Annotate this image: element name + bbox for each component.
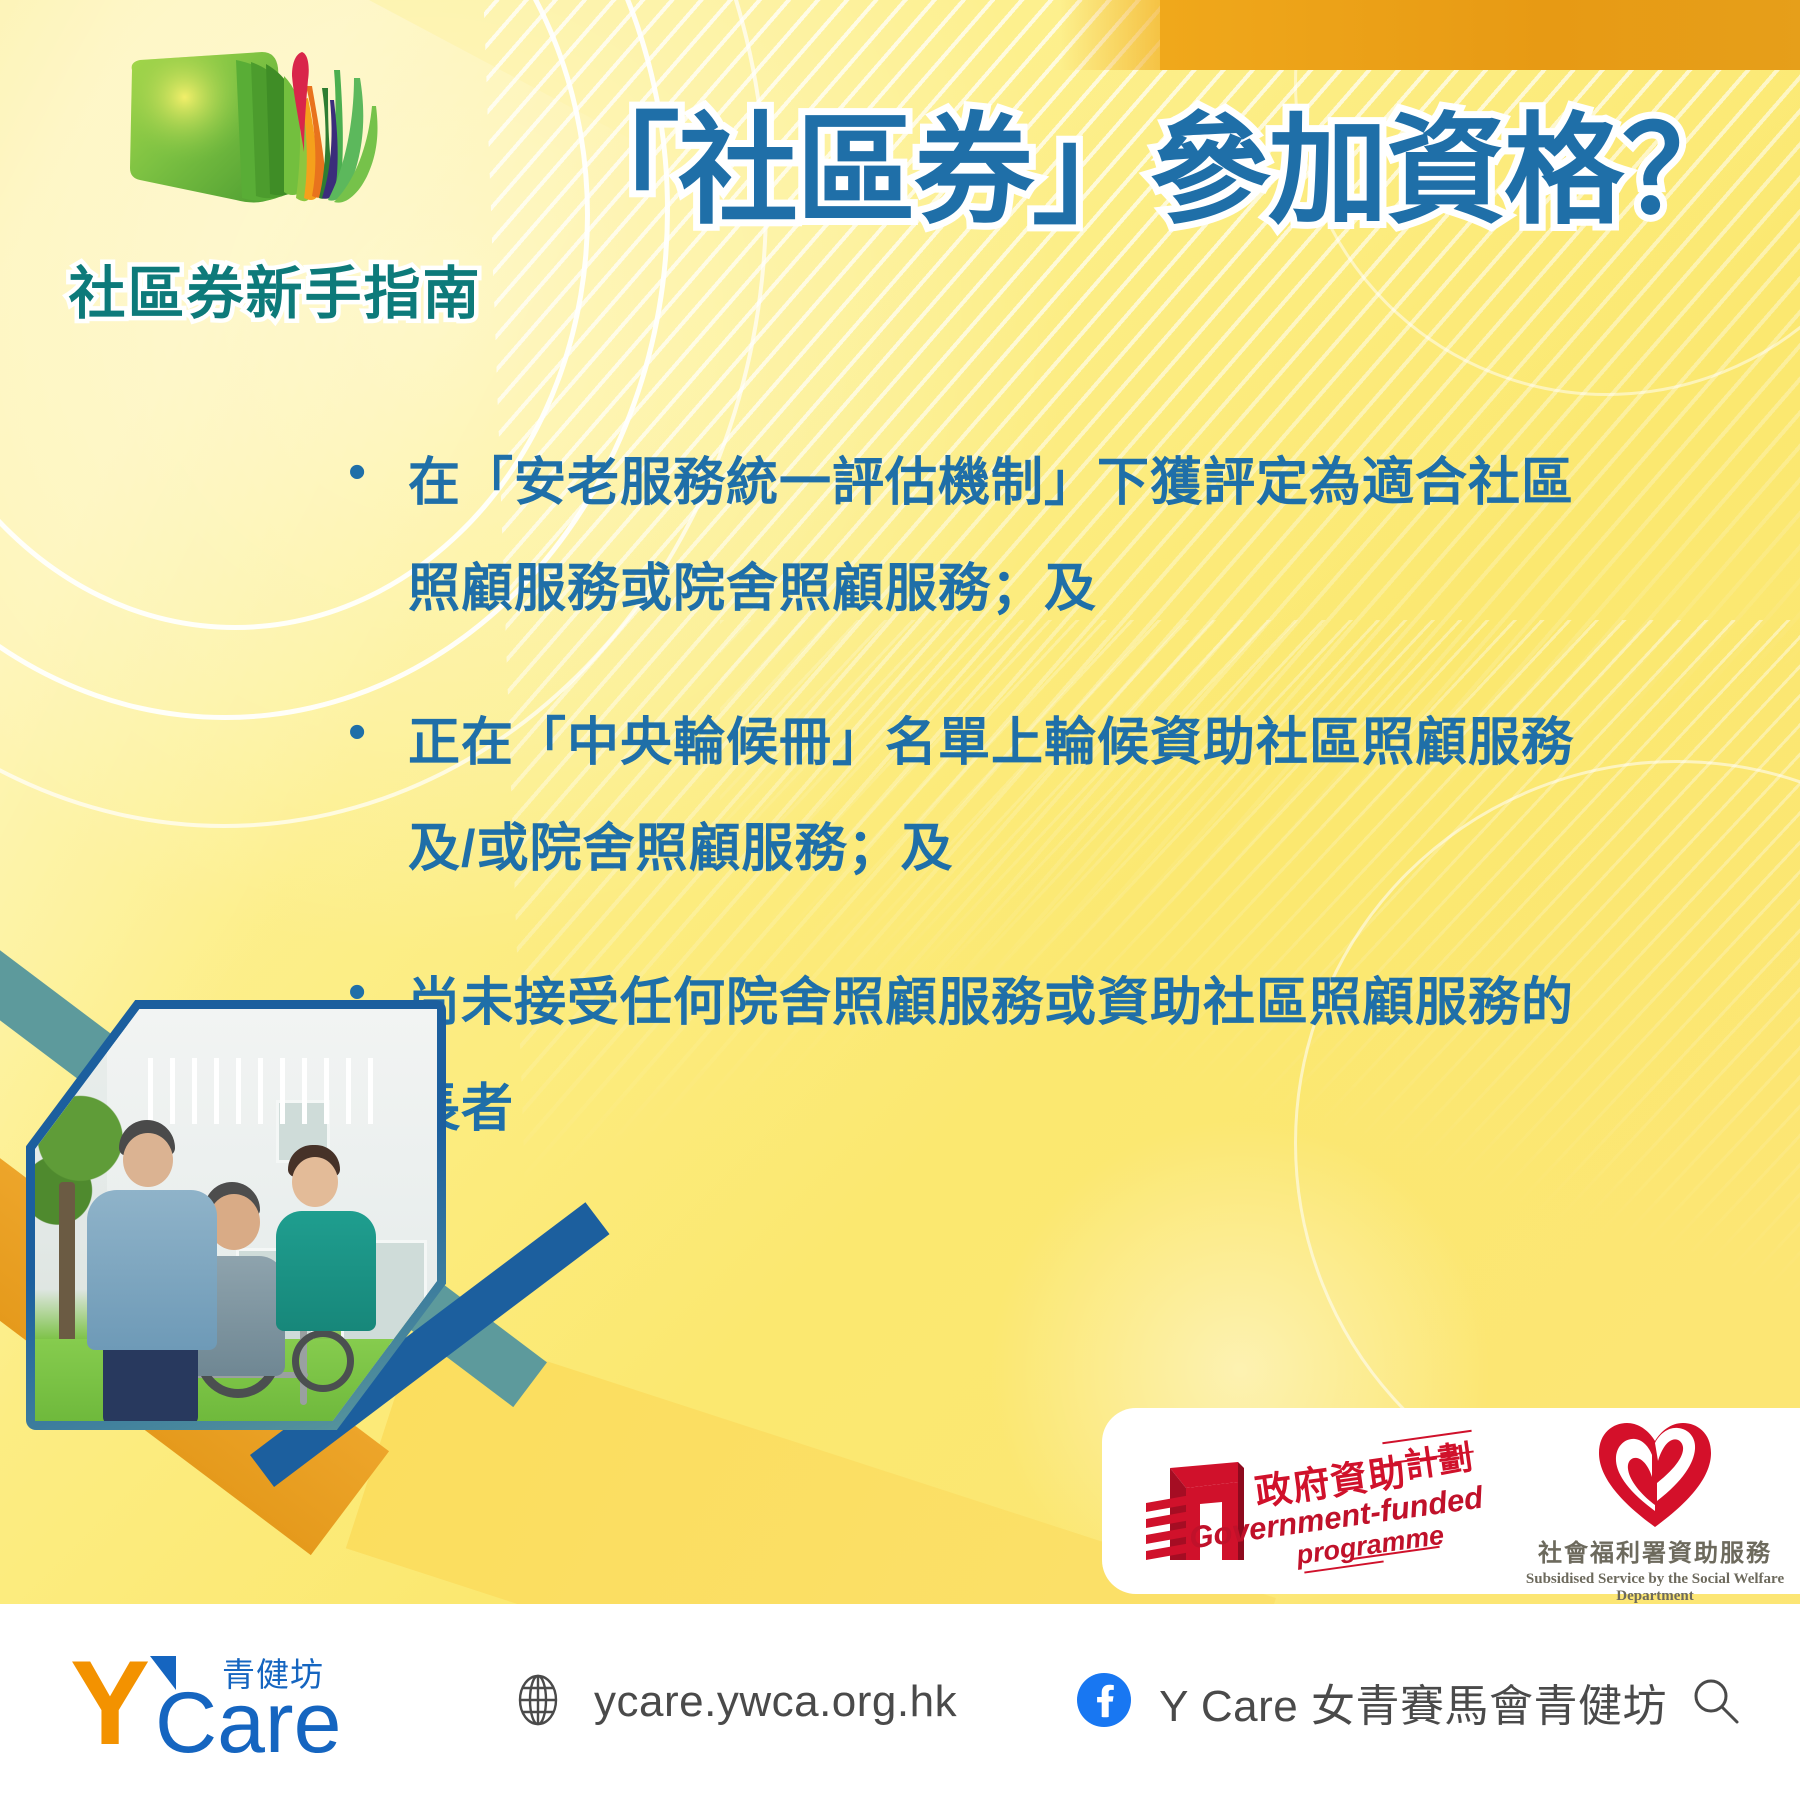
heart-hands-icon [1595, 1419, 1715, 1531]
background-top-gold-band [1160, 0, 1800, 70]
list-item: • 尚未接受任何院舍照顧服務或資助社區照顧服務的長者 [340, 950, 1610, 1162]
list-item: • 在「安老服務統一評估機制」下獲評定為適合社區照顧服務或院舍照顧服務；及 [340, 430, 1610, 642]
facebook-link[interactable]: Y Care 女青賽馬會青健坊 [957, 1670, 1741, 1734]
eligibility-list: • 在「安老服務統一評估機制」下獲評定為適合社區照顧服務或院舍照顧服務；及 • … [340, 430, 1610, 1210]
funder-panel: 政府資助 計劃 Government-funded programme 社會福利… [1102, 1408, 1800, 1594]
website-link[interactable]: ycare.ywca.org.hk [370, 1672, 957, 1733]
brand-badge-label: 社區券新手指南 [60, 248, 490, 330]
website-url-text: ycare.ywca.org.hk [594, 1677, 957, 1727]
open-book-icon [116, 40, 436, 250]
footer-bar: Y 青健坊 Care ycare.ywca.org.hk [0, 1604, 1800, 1800]
list-item: • 正在「中央輪候冊」名單上輪候資助社區照顧服務及/或院舍照顧服務；及 [340, 690, 1610, 902]
list-item-text: 正在「中央輪候冊」名單上輪候資助社區照顧服務及/或院舍照顧服務；及 [408, 690, 1610, 902]
photo-hexagon [26, 1000, 446, 1430]
ycare-logo-y: Y [70, 1648, 150, 1758]
list-item-text: 尚未接受任何院舍照顧服務或資助社區照顧服務的長者 [408, 950, 1610, 1162]
government-funded-logo: 政府資助 計劃 Government-funded programme [1136, 1426, 1496, 1576]
poster-canvas: 社區券新手指南 「社區券」參加資格？ • 在「安老服務統一評估機制」下獲評定為適… [0, 0, 1800, 1800]
swd-label-cn: 社會福利署資助服務 [1510, 1533, 1800, 1568]
social-welfare-department-logo: 社會福利署資助服務 Subsidised Service by the Soci… [1510, 1417, 1800, 1585]
facebook-page-name: Y Care 女青賽馬會青健坊 [1159, 1670, 1667, 1734]
list-item-text: 在「安老服務統一評估機制」下獲評定為適合社區照顧服務或院舍照顧服務；及 [408, 430, 1610, 642]
gov-funded-plan-cn: 計劃 [1401, 1430, 1475, 1488]
ycare-logo[interactable]: Y 青健坊 Care [70, 1642, 370, 1762]
brand-badge: 社區券新手指南 [58, 30, 488, 320]
bullet-marker-icon: • [340, 690, 408, 774]
photo-image [35, 1009, 437, 1421]
bullet-marker-icon: • [340, 430, 408, 514]
page-title: 「社區券」參加資格？ [560, 108, 1720, 235]
ycare-logo-care: Care [155, 1680, 341, 1766]
swd-label-en: Subsidised Service by the Social Welfare… [1510, 1571, 1800, 1605]
search-icon[interactable] [1689, 1674, 1741, 1731]
facebook-icon [1075, 1671, 1133, 1734]
globe-icon [510, 1672, 566, 1733]
